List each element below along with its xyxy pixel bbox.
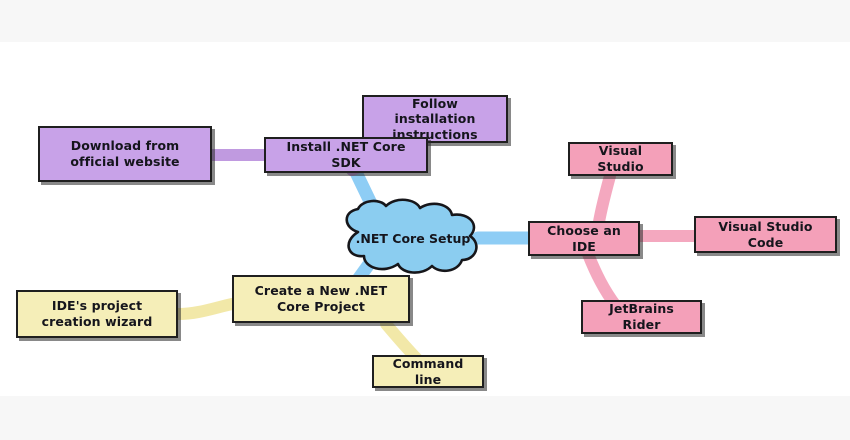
node-visual-studio-code[interactable]: Visual Studio Code (694, 216, 837, 253)
node-label: Download from official website (49, 138, 201, 169)
node-choose-an-ide[interactable]: Choose an IDE (528, 221, 640, 256)
center-node-dotnet-core-setup[interactable]: .NET Core Setup (328, 198, 498, 278)
node-create-a-new-dotnet-core-project[interactable]: Create a New .NET Core Project (232, 275, 410, 323)
node-label: Visual Studio Code (705, 219, 826, 250)
top-background-band (0, 0, 850, 42)
diagram-canvas: .NET Core Setup Follow installation inst… (0, 42, 850, 396)
mindmap-diagram: .NET Core Setup Follow installation inst… (0, 0, 850, 440)
bottom-background-band (0, 396, 850, 440)
node-label: Command line (383, 356, 473, 387)
node-install-dotnet-core-sdk[interactable]: Install .NET Core SDK (264, 137, 428, 173)
edge-choose-ide-to-jetbrains-rider (588, 254, 616, 306)
node-label: Create a New .NET Core Project (243, 283, 399, 314)
node-label: Install .NET Core SDK (275, 139, 417, 170)
center-node-label: .NET Core Setup (356, 231, 471, 246)
node-label: IDE's project creation wizard (27, 298, 167, 329)
node-command-line[interactable]: Command line (372, 355, 484, 388)
node-label: JetBrains Rider (592, 301, 691, 332)
node-label: Choose an IDE (539, 223, 629, 254)
node-label: Follow installation instructions (373, 96, 497, 143)
node-visual-studio[interactable]: Visual Studio (568, 142, 673, 176)
edge-create-project-to-wizard (178, 304, 232, 314)
node-jetbrains-rider[interactable]: JetBrains Rider (581, 300, 702, 334)
node-ides-project-creation-wizard[interactable]: IDE's project creation wizard (16, 290, 178, 338)
node-follow-installation-instructions[interactable]: Follow installation instructions (362, 95, 508, 143)
node-label: Visual Studio (579, 143, 662, 174)
node-download-from-official-website[interactable]: Download from official website (38, 126, 212, 182)
